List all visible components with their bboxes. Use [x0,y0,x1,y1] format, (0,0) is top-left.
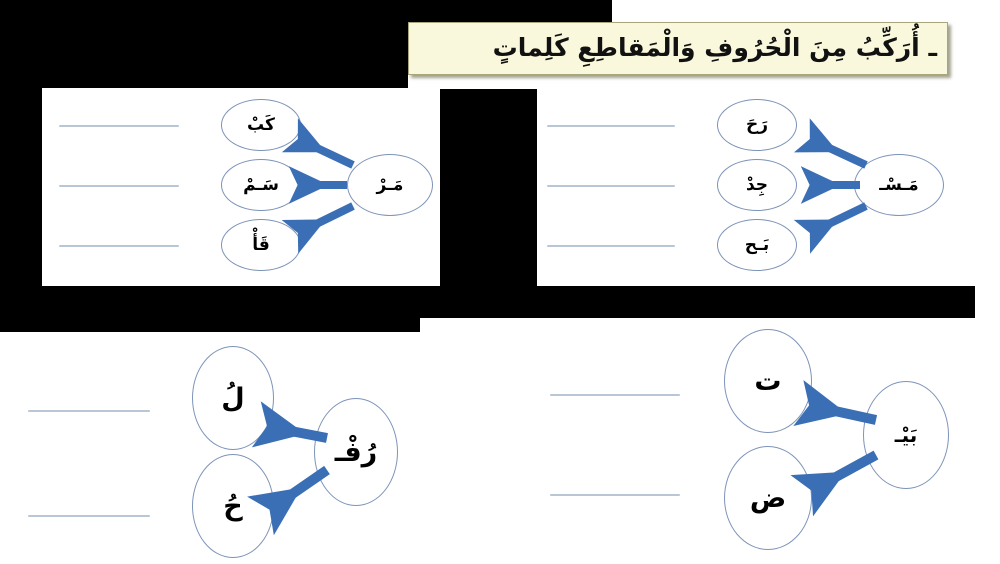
source-syllable-text: بَيْـ [895,425,918,445]
source-syllable-text: مَـرْ [377,177,404,194]
page-title-banner: ـ أُرَكِّبُ مِنَ الْحُرُوفِ وَالْمَقاطِع… [408,22,948,75]
exercise-panel-4: ت ض بَيْـ [538,318,975,558]
answer-line[interactable] [59,185,179,187]
answer-line[interactable] [547,125,675,127]
background-strip-mid-lower [420,318,538,564]
syllable-ellipse[interactable]: سَـمْ [221,159,301,211]
exercise-panel-1: كَبْ سَـمْ قَأْ مَـرْ [42,88,440,286]
page-title: ـ أُرَكِّبُ مِنَ الْحُرُوفِ وَالْمَقاطِع… [493,35,937,61]
worksheet-canvas: ـ أُرَكِّبُ مِنَ الْحُرُوفِ وَالْمَقاطِع… [0,0,1000,564]
background-strip-right-upper [975,88,1000,320]
syllable-text: لُ [221,385,244,412]
syllable-ellipse[interactable]: لُ [192,346,274,450]
syllable-text: بَـح [745,237,769,254]
answer-line[interactable] [547,245,675,247]
answer-line[interactable] [547,185,675,187]
syllable-ellipse[interactable]: كَبْ [221,99,301,151]
answer-line[interactable] [59,245,179,247]
syllable-text: رَحَ [746,117,768,134]
syllable-text: قَأْ [252,237,270,254]
syllable-ellipse[interactable]: ت [724,329,812,433]
syllable-text: ت [754,368,781,395]
exercise-panel-2: رَحَ جِدْ بَـح مَـسْـ [537,88,975,286]
answer-line[interactable] [28,515,150,517]
background-strip-top-right [948,0,1000,90]
source-syllable-ellipse[interactable]: رُفْـ [314,398,398,506]
exercise-panel-3: لُ حُ رُفْـ [0,332,420,564]
syllable-ellipse[interactable]: جِدْ [717,159,797,211]
syllable-ellipse[interactable]: قَأْ [221,219,301,271]
background-strip-top [612,0,1000,22]
answer-line[interactable] [550,394,680,396]
source-syllable-ellipse[interactable]: مَـرْ [347,154,433,216]
syllable-ellipse[interactable]: حُ [192,454,274,558]
syllable-text: حُ [223,493,242,520]
syllable-ellipse[interactable]: ض [724,446,812,550]
syllable-text: ض [750,485,786,512]
answer-line[interactable] [28,410,150,412]
syllable-text: جِدْ [746,177,768,194]
background-strip-right-lower [975,318,1000,564]
source-syllable-text: رُفْـ [335,439,377,466]
syllable-ellipse[interactable]: بَـح [717,219,797,271]
source-syllable-ellipse[interactable]: بَيْـ [863,381,949,489]
background-strip-under-banner [408,75,948,89]
source-syllable-ellipse[interactable]: مَـسْـ [854,154,944,216]
answer-line[interactable] [550,494,680,496]
syllable-ellipse[interactable]: رَحَ [717,99,797,151]
answer-line[interactable] [59,125,179,127]
syllable-text: كَبْ [247,117,275,134]
syllable-text: سَـمْ [243,177,279,194]
source-syllable-text: مَـسْـ [879,177,918,194]
